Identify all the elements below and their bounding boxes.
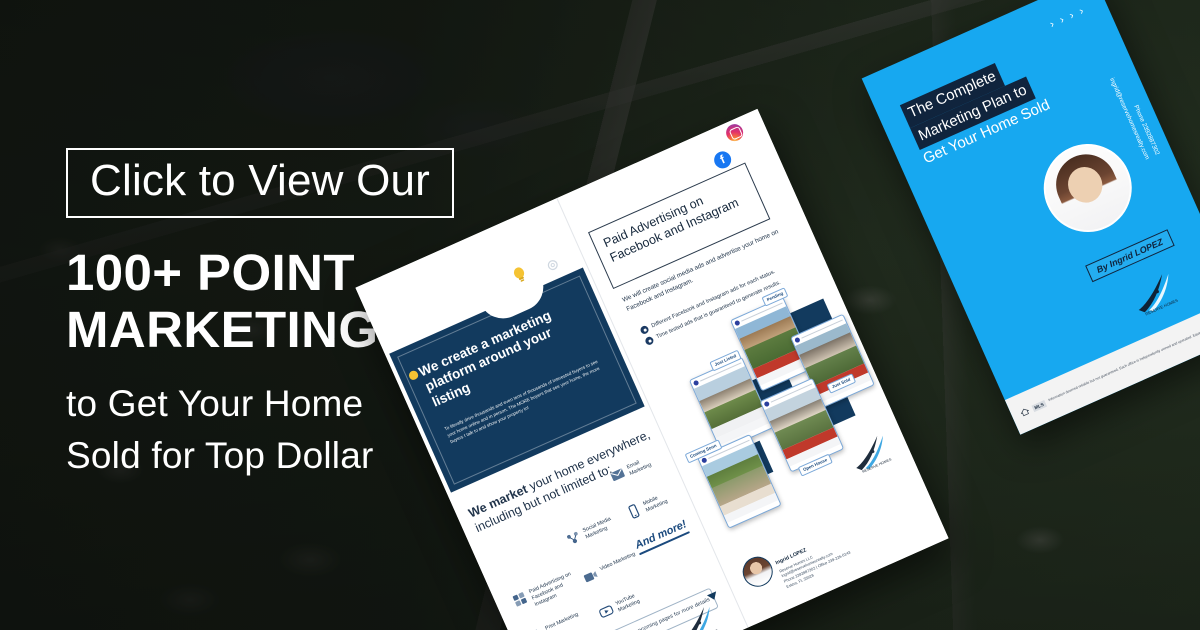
cta-label: Click to View Our [90, 159, 430, 203]
agent-avatar [738, 552, 778, 592]
channel-video-marketing: Video Marketing [581, 548, 642, 586]
channel-label: Mobile Marketing [641, 485, 681, 514]
social-media-icon [564, 528, 584, 548]
clock-bullet-icon [644, 336, 655, 347]
youtube-icon [596, 601, 616, 621]
channel-social-media: Social Media Marketing [564, 510, 625, 549]
print-marketing-icon [526, 626, 546, 630]
facebook-bullet-icon [639, 325, 650, 336]
video-marketing-icon [581, 567, 601, 587]
mls-badge: MLS [1031, 400, 1046, 412]
avatar [794, 337, 801, 344]
bulb-bullet-icon [408, 369, 420, 381]
agent-details: Reserve Homes LLC ingrid@reservehomesrea… [778, 539, 854, 590]
gear-icon [543, 255, 563, 275]
and-more-label: And more! [633, 518, 690, 555]
avatar [693, 380, 700, 387]
agent-meta: Ingrid LOPEZ Reserve Homes LLC ingrid@re… [770, 520, 854, 590]
banner-stage: Click to View Our 100+ POINT MARKETING P… [0, 0, 1200, 630]
equal-housing-icon [1019, 406, 1030, 417]
agent-portrait [1030, 130, 1146, 246]
avatar [734, 320, 741, 327]
channel-label: Paid Advertising on Facebook and Instagr… [527, 569, 579, 609]
channel-print-marketing: Print Marketing [526, 605, 592, 630]
avatar [701, 457, 708, 464]
channel-label: Print Marketing [544, 610, 580, 630]
channel-mobile-marketing: Mobile Marketing [624, 485, 682, 522]
paid-advertising-icon [510, 589, 530, 609]
reserve-homes-logo: RESERVE HOMES [1121, 264, 1190, 324]
avatar [763, 401, 770, 408]
click-to-view-cta[interactable]: Click to View Our [66, 148, 454, 218]
instagram-icon [723, 121, 745, 143]
mobile-marketing-icon [624, 501, 644, 521]
channel-paid-advertising: Paid Advertising on Facebook and Instagr… [510, 569, 579, 617]
channel-label: Social Media Marketing [581, 510, 625, 541]
channel-label: Video Marketing [598, 550, 636, 574]
channel-label: YouTube Marketing [614, 583, 658, 614]
